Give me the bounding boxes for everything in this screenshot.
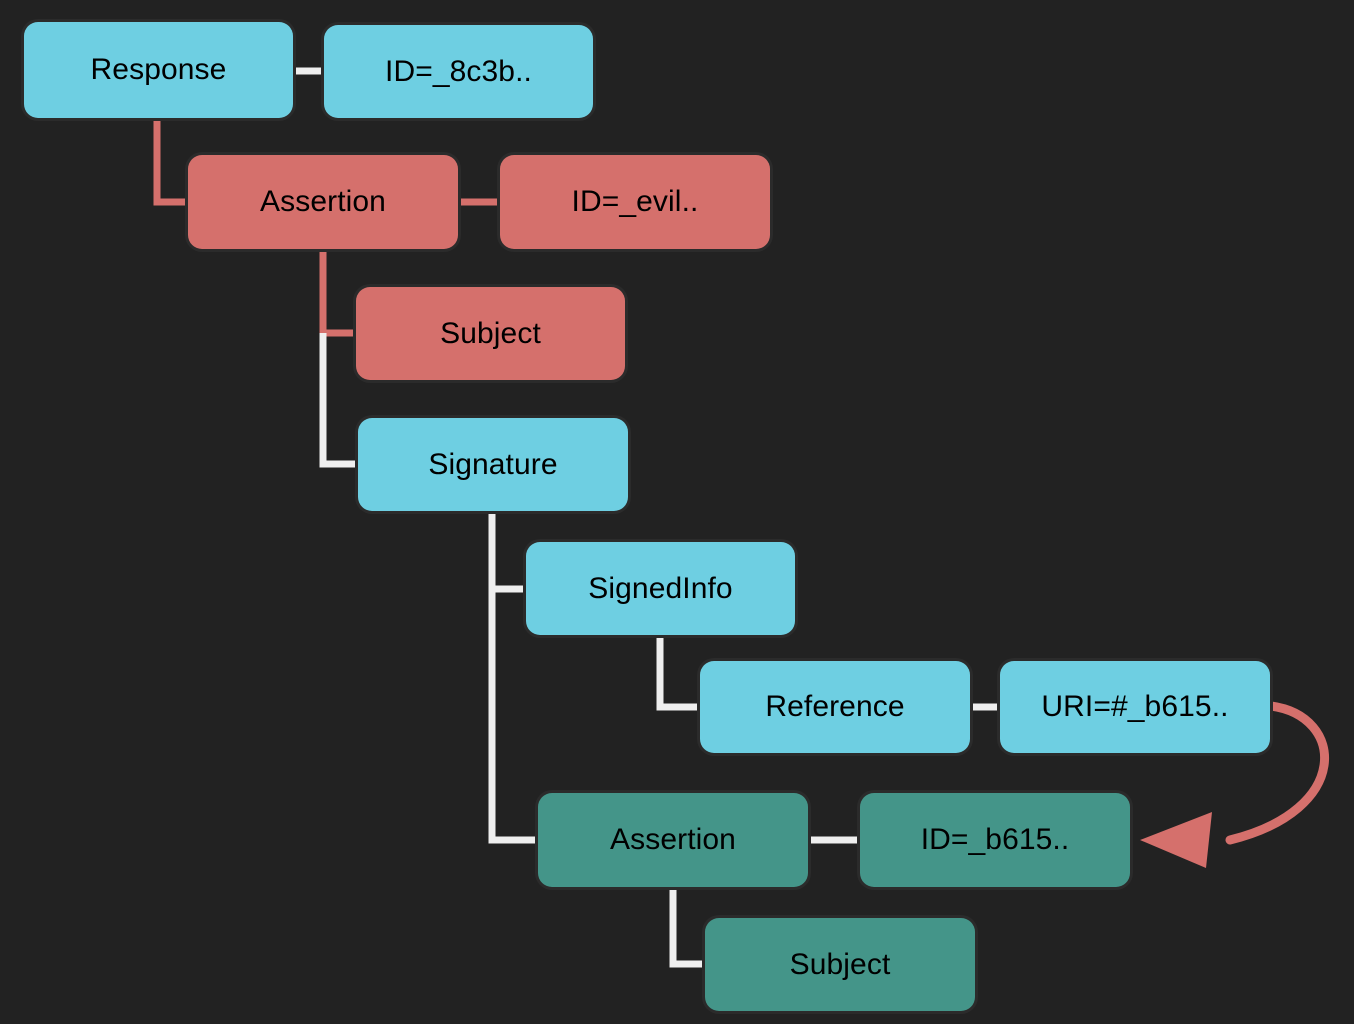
node-response-id[interactable]: ID=_8c3b..	[324, 25, 593, 118]
node-subject-evil-label: Subject	[440, 317, 541, 351]
edge-signedinfo-to-reference	[660, 635, 700, 707]
node-response-id-label: ID=_8c3b..	[385, 55, 532, 89]
node-reference[interactable]: Reference	[700, 661, 970, 753]
node-assertion-evil-label: Assertion	[260, 185, 386, 219]
edge-assertion-orig-to-subject	[673, 887, 705, 964]
node-assertion-orig-label: Assertion	[610, 823, 736, 857]
node-uri-label: URI=#_b615..	[1041, 690, 1228, 724]
node-reference-label: Reference	[765, 690, 904, 724]
node-assertion-evil[interactable]: Assertion	[188, 155, 458, 249]
node-subject-orig-label: Subject	[790, 948, 891, 982]
node-subject-orig[interactable]: Subject	[705, 918, 975, 1011]
node-signedinfo[interactable]: SignedInfo	[526, 542, 795, 635]
edge-assertion-to-signature	[323, 333, 358, 464]
edge-signature-to-signedinfo	[492, 511, 526, 589]
diagram-canvas: Response ID=_8c3b.. Assertion ID=_evil..…	[0, 0, 1354, 1024]
node-assertion-evil-id[interactable]: ID=_evil..	[500, 155, 770, 249]
node-signature-label: Signature	[428, 448, 557, 482]
node-response[interactable]: Response	[24, 22, 293, 118]
node-assertion-orig[interactable]: Assertion	[538, 793, 808, 887]
node-subject-evil[interactable]: Subject	[356, 287, 625, 380]
uri-reference-arrow-head	[1140, 812, 1212, 868]
node-assertion-orig-id[interactable]: ID=_b615..	[860, 793, 1130, 887]
node-assertion-evil-id-label: ID=_evil..	[572, 185, 699, 219]
edge-response-to-assertion	[157, 118, 188, 202]
node-signature[interactable]: Signature	[358, 418, 628, 511]
edge-assertion-to-subject	[323, 249, 356, 333]
node-assertion-orig-id-label: ID=_b615..	[921, 823, 1070, 857]
node-uri[interactable]: URI=#_b615..	[1000, 661, 1270, 753]
node-signedinfo-label: SignedInfo	[588, 572, 732, 606]
node-response-label: Response	[91, 53, 227, 87]
